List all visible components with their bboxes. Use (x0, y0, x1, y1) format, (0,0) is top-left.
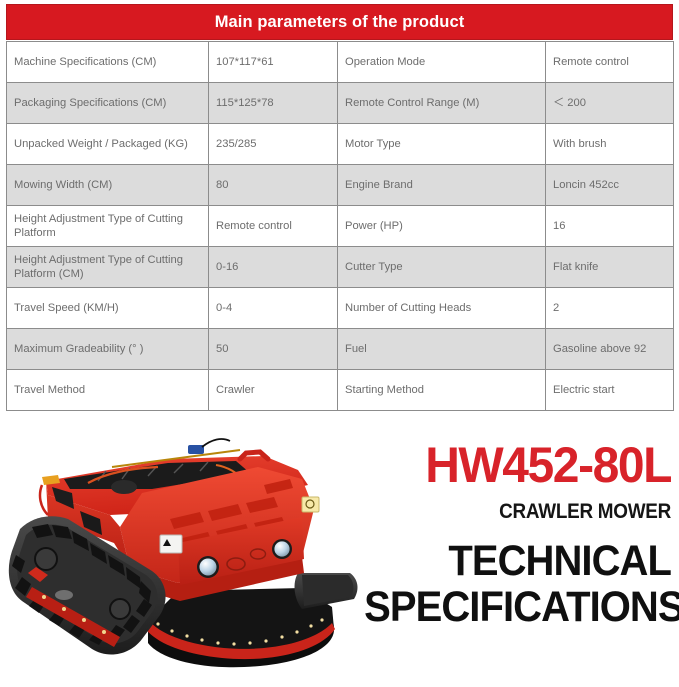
engine-block (111, 480, 137, 494)
spec-value: Flat knife (546, 247, 674, 288)
product-spec-sheet: Main parameters of the product Machine S… (0, 0, 679, 687)
spec-label: Height Adjustment Type of Cutting Platfo… (7, 206, 209, 247)
idler-wheel-rear (110, 599, 130, 619)
product-category-label: CRAWLER MOWER (374, 500, 671, 524)
spec-value: Remote control (209, 206, 338, 247)
table-row: Machine Specifications (CM) 107*117*61 O… (7, 42, 674, 83)
headlamp-right (274, 541, 289, 556)
spec-label: Number of Cutting Heads (338, 288, 546, 329)
spec-label: Packaging Specifications (CM) (7, 83, 209, 124)
spec-value: 2 (546, 288, 674, 329)
spec-value: 235/285 (209, 124, 338, 165)
spec-label: Cutter Type (338, 247, 546, 288)
warning-decal (160, 535, 182, 553)
spec-label: Operation Mode (338, 42, 546, 83)
table-row: Mowing Width (CM) 80 Engine Brand Loncin… (7, 165, 674, 206)
table-title-bar: Main parameters of the product (6, 4, 673, 40)
idler-wheel-front (35, 548, 57, 570)
spec-value: 115*125*78 (209, 83, 338, 124)
headlamp-left (200, 559, 217, 576)
spec-label: Maximum Gradeability (° ) (7, 329, 209, 370)
table-row: Height Adjustment Type of Cutting Platfo… (7, 206, 674, 247)
spec-value: 0-16 (209, 247, 338, 288)
spec-label: Travel Method (7, 370, 209, 411)
spec-value: 80 (209, 165, 338, 206)
headline-line-1: TECHNICAL (448, 537, 671, 585)
headline: TECHNICAL SPECIFICATIONS (364, 540, 671, 630)
table-row: Height Adjustment Type of Cutting Platfo… (7, 247, 674, 288)
headline-line-2: SPECIFICATIONS (364, 586, 671, 630)
spec-table-body: Machine Specifications (CM) 107*117*61 O… (7, 42, 674, 411)
table-row: Travel Speed (KM/H) 0-4 Number of Cuttin… (7, 288, 674, 329)
spec-label: Mowing Width (CM) (7, 165, 209, 206)
caution-decal (302, 497, 319, 512)
spec-label: Unpacked Weight / Packaged (KG) (7, 124, 209, 165)
spec-label: Engine Brand (338, 165, 546, 206)
spec-value: Electric start (546, 370, 674, 411)
spec-value: ＜ 200 (546, 83, 674, 124)
product-model-name: HW452-80L (354, 441, 671, 490)
spec-table-container: Main parameters of the product Machine S… (6, 4, 673, 411)
product-image (2, 423, 362, 681)
hero-text-block: HW452-80L CRAWLER MOWER TECHNICAL SPECIF… (341, 441, 671, 630)
hero-section: HW452-80L CRAWLER MOWER TECHNICAL SPECIF… (0, 415, 679, 687)
spec-label: Remote Control Range (M) (338, 83, 546, 124)
table-row: Maximum Gradeability (° ) 50 Fuel Gasoli… (7, 329, 674, 370)
spec-value: Loncin 452cc (546, 165, 674, 206)
spec-label: Fuel (338, 329, 546, 370)
specifications-table: Machine Specifications (CM) 107*117*61 O… (6, 41, 674, 411)
spec-label: Motor Type (338, 124, 546, 165)
spec-value: Remote control (546, 42, 674, 83)
spec-label: Travel Speed (KM/H) (7, 288, 209, 329)
spec-value: Gasoline above 92 (546, 329, 674, 370)
page-title: Main parameters of the product (215, 13, 465, 32)
crawler-mower-illustration (2, 423, 362, 681)
spec-label: Height Adjustment Type of Cutting Platfo… (7, 247, 209, 288)
spec-value: 107*117*61 (209, 42, 338, 83)
spec-value: 0-4 (209, 288, 338, 329)
spec-value: 50 (209, 329, 338, 370)
spec-value: 16 (546, 206, 674, 247)
spec-value: Crawler (209, 370, 338, 411)
table-row: Packaging Specifications (CM) 115*125*78… (7, 83, 674, 124)
antenna (202, 439, 230, 447)
spec-label: Starting Method (338, 370, 546, 411)
roller (55, 590, 73, 600)
spec-value: With brush (546, 124, 674, 165)
spec-label: Power (HP) (338, 206, 546, 247)
table-row: Unpacked Weight / Packaged (KG) 235/285 … (7, 124, 674, 165)
table-row: Travel Method Crawler Starting Method El… (7, 370, 674, 411)
spec-label: Machine Specifications (CM) (7, 42, 209, 83)
